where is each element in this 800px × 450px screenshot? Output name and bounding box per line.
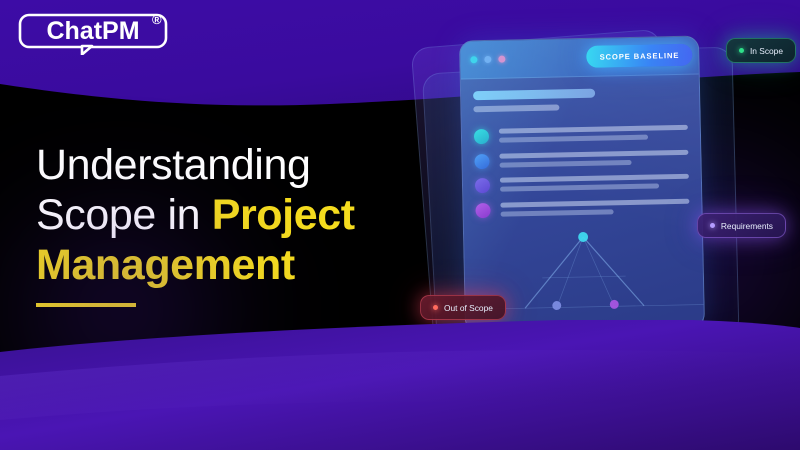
headline-line-2-plain: Scope in — [36, 191, 212, 239]
row-line-secondary — [500, 159, 632, 167]
logo-text: ChatPM — [46, 17, 139, 45]
row-text-placeholders — [499, 148, 688, 167]
row-line-primary — [499, 125, 688, 134]
bottom-purple-band — [0, 320, 800, 450]
content-subheading-placeholder — [473, 104, 559, 112]
registered-trademark-icon: ® — [152, 12, 162, 27]
row-line-primary — [500, 174, 689, 183]
row-line-secondary — [501, 209, 614, 216]
scope-window-card: SCOPE BASELINE — [459, 36, 705, 333]
badge-in-scope[interactable]: In Scope — [726, 38, 796, 63]
diagram-node-right — [610, 300, 619, 309]
requirement-row — [474, 124, 688, 144]
badge-requirements-label: Requirements — [721, 221, 773, 231]
status-dot-purple-icon — [710, 223, 715, 228]
requirement-row — [475, 197, 689, 217]
headline-line-3-accent: Management — [36, 240, 396, 290]
badge-in-scope-label: In Scope — [750, 46, 783, 56]
diagram-crossbar — [542, 276, 625, 278]
badge-requirements[interactable]: Requirements — [697, 213, 786, 238]
title-underline-accent — [36, 303, 136, 307]
row-avatar-icon — [474, 129, 489, 144]
diagram-edge-inner-right — [583, 236, 614, 307]
status-dot-red-icon — [433, 305, 438, 310]
row-avatar-icon — [475, 178, 490, 193]
row-line-secondary — [499, 135, 648, 143]
row-line-primary — [500, 198, 689, 207]
scope-baseline-pill[interactable]: SCOPE BASELINE — [586, 44, 692, 68]
diagram-edge-inner-left — [555, 237, 584, 308]
window-content — [461, 75, 702, 218]
speech-bubble-tail-icon — [82, 46, 92, 55]
badge-out-of-scope-label: Out of Scope — [444, 303, 493, 313]
window-titlebar: SCOPE BASELINE — [460, 37, 699, 80]
headline-line-1: Understanding — [36, 141, 311, 189]
window-dot-cyan-icon[interactable] — [470, 56, 477, 63]
row-text-placeholders — [500, 197, 689, 216]
window-dot-blue-icon[interactable] — [484, 56, 491, 63]
diagram-edge-left — [524, 237, 585, 308]
row-text-placeholders — [499, 124, 688, 143]
requirement-list — [474, 124, 690, 218]
row-avatar-icon — [475, 202, 490, 217]
diagram-edge-right — [583, 236, 644, 307]
page-title: Understanding Scope in Project Managemen… — [36, 140, 396, 307]
row-text-placeholders — [500, 173, 689, 192]
window-traffic-lights — [470, 56, 505, 64]
poster-canvas: ChatPM ® Understanding Scope in Project … — [0, 0, 800, 450]
requirement-row — [475, 173, 689, 193]
badge-out-of-scope[interactable]: Out of Scope — [420, 295, 506, 320]
requirement-row — [474, 148, 688, 168]
row-avatar-icon — [474, 153, 489, 168]
logo-speech-bubble[interactable]: ChatPM — [18, 13, 168, 55]
headline-text: Understanding Scope in Project Managemen… — [36, 140, 396, 290]
row-line-secondary — [500, 183, 659, 191]
row-line-primary — [499, 149, 688, 158]
headline-line-2-accent: Project — [212, 191, 355, 239]
status-dot-green-icon — [739, 48, 744, 53]
window-dot-pink-icon[interactable] — [498, 56, 505, 63]
diagram-node-left — [552, 301, 561, 310]
content-heading-placeholder — [473, 89, 595, 101]
